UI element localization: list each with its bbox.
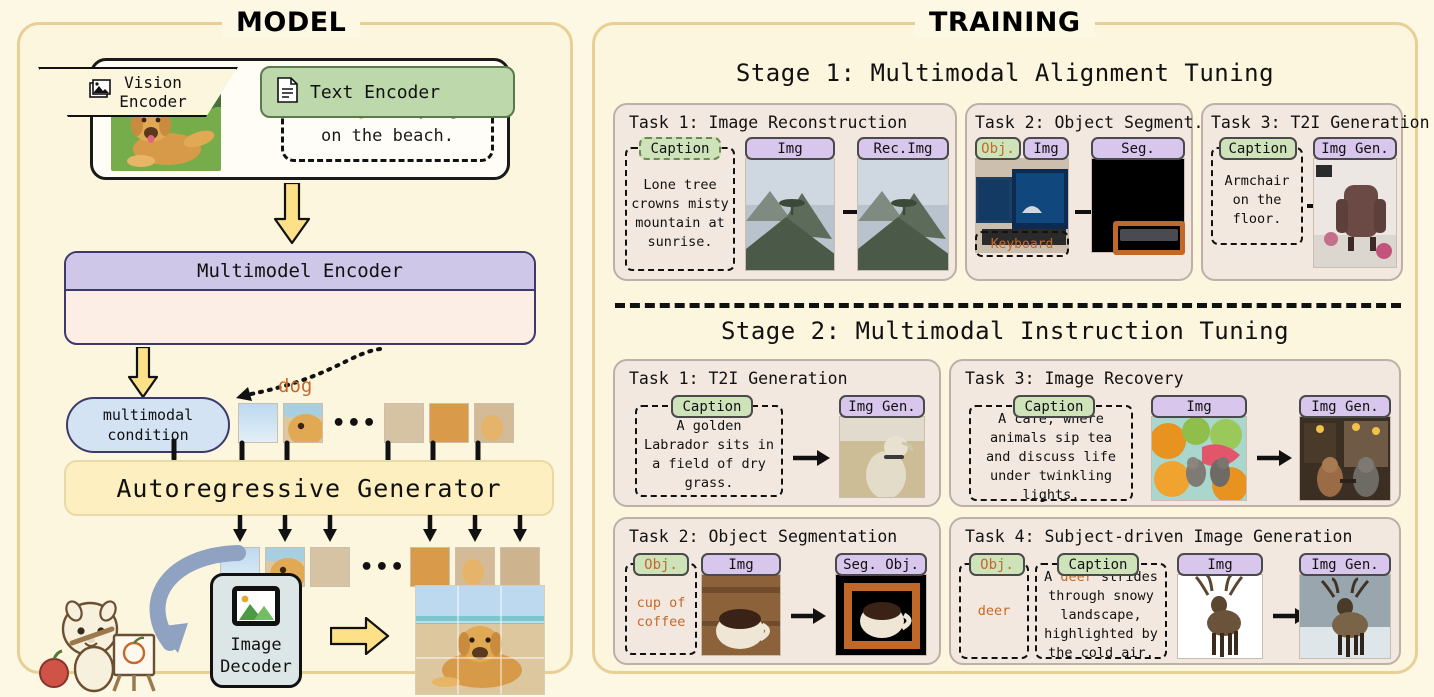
stage1-task1-card: Task 1: Image Reconstruction Caption Lon… [613,103,957,281]
image-icon [89,78,113,106]
patch-in-4 [429,403,469,443]
arrow-decoder-to-output [330,617,390,655]
text-encoder-label: Text Encoder [310,82,440,103]
patch-in-3 [384,403,424,443]
training-panel-title: TRAINING [915,7,1095,38]
stage2-task2-img-thumb [701,574,781,656]
stage1-task1-img-thumb [745,158,835,271]
stage1-task2-title: Task 2: Object Segment. [975,113,1203,132]
dog-token-label: dog [278,375,312,397]
stage2-task2-arrow [791,607,827,629]
figure-root: MODEL [0,0,1434,692]
model-panel-title: MODEL [222,7,360,38]
stage2-task4-img-thumb [1177,574,1263,659]
multimodal-encoder-title: Multimodel Encoder [66,253,534,291]
stage1-task3-out-tag: Img Gen. [1313,137,1397,160]
stage2-task1-out-tag: Img Gen. [839,395,925,418]
stage2-task2-card: Task 2: Object Segmentation Obj. cup of … [613,517,941,665]
stage1-task1-caption-tag: Caption [639,137,721,160]
vision-encoder-line2: Encoder [119,92,186,111]
stage2-task3-caption-text: A café, where animals sip tea and discus… [974,410,1128,505]
patch-in-2 [283,403,323,443]
stage2-task4-caption-box: A deer strides through snowy landscape, … [1035,563,1167,659]
stage2-task3-out-thumb [1299,416,1391,501]
stage2-task3-arrow [1257,449,1293,471]
stage2-task3-out-tag: Img Gen. [1299,395,1391,418]
picture-icon [230,584,282,634]
generator-output-arrows [230,515,560,547]
stage1-task2-obj-box: Keyboard [975,231,1069,257]
stage2-task3-card: Task 3: Image Recovery Caption A café, w… [949,359,1401,507]
stage2-task2-obj-text: cup of coffee [630,594,692,632]
stage1-task1-out-thumb [857,158,949,271]
stage2-task2-obj-box: cup of coffee [625,563,697,655]
stage1-task2-obj-tag: Obj. [975,137,1021,160]
stage2-task1-caption-text: A golden Labrador sits in a field of dry… [640,417,778,493]
stage2-task2-img-tag: Img [701,553,781,576]
stage1-task3-caption-box: Armchair on the floor. [1211,147,1303,245]
stage2-task2-title: Task 2: Object Segmentation [629,527,897,546]
patch-in-1 [238,403,278,443]
multimodal-encoder: Multimodel Encoder [64,251,536,345]
stage1-task2-obj-text: Keyboard [991,235,1054,254]
caption-line2: on the beach. [321,123,454,149]
stage1-task2-img-tag: Img [1023,137,1069,160]
stage1-task2-out-tag: Seg. [1091,137,1185,160]
stage2-task4-img-tag: Img [1177,553,1263,576]
patch-out-ellipsis: ••• [360,555,406,580]
stage1-task3-caption-text: Armchair on the floor. [1216,172,1298,229]
image-decoder-line1: Image [230,634,281,656]
stage2-task1-card: Task 1: T2I Generation Caption A golden … [613,359,941,507]
stage1-task1-out-tag: Rec.Img [857,137,949,160]
stage1-task3-title: Task 3: T2I Generation [1211,113,1430,132]
autoregressive-generator: Autoregressive Generator [64,460,554,516]
final-generated-image [415,585,545,695]
image-decoder-line2: Decoder [220,656,292,678]
arrow-encoder-to-condition [128,347,158,399]
patch-in-5 [474,403,514,443]
patch-out-4 [410,547,450,587]
stage1-task3-out-thumb [1313,158,1397,268]
stage2-task4-caption-tag: Caption [1057,553,1139,576]
model-panel: MODEL [17,22,573,674]
stage1-task1-caption-box: Lone tree crowns misty mountain at sunri… [625,147,735,271]
text-encoder: Text Encoder [260,66,515,118]
stage1-task2-seg-highlight [1113,221,1185,255]
stage2-task3-caption-tag: Caption [1013,395,1095,418]
patch-in-ellipsis: ••• [332,411,378,436]
condition-line1: multimodal [103,405,193,425]
stage2-task2-out-tag: Seg. Obj. [835,553,927,576]
training-panel: TRAINING Stage 1: Multimodal Alignment T… [592,22,1418,674]
stage2-task2-out-thumb [835,574,927,656]
stage2-task1-arrow [793,449,831,471]
stage1-task1-title: Task 1: Image Reconstruction [629,113,907,132]
vision-encoder: Vision Encoder [38,67,238,117]
patch-out-5 [455,547,495,587]
stage1-task3-card: Task 3: T2I Generation Caption Armchair … [1201,103,1403,281]
stage2-task4-out-tag: Img Gen. [1299,553,1391,576]
arrow-input-to-encoder [274,183,310,245]
document-icon [276,76,300,109]
alpaca-mascot-icon [38,583,158,697]
stage1-task2-card: Task 2: Object Segment. Obj. Img Keyboar… [965,103,1193,281]
stage2-task3-caption-box: A café, where animals sip tea and discus… [969,405,1133,501]
image-decoder: Image Decoder [210,573,302,688]
stage2-title: Stage 2: Multimodal Instruction Tuning [595,317,1415,345]
stage2-task4-card: Task 4: Subject-driven Image Generation … [949,517,1401,665]
stage2-task4-out-thumb [1299,574,1391,659]
stage1-title: Stage 1: Multimodal Alignment Tuning [595,59,1415,87]
stage2-task2-obj-tag: Obj. [633,553,689,576]
stage2-task3-img-thumb [1151,416,1247,501]
stage1-task3-caption-tag: Caption [1219,137,1297,160]
stage2-task1-caption-tag: Caption [671,395,753,418]
stage1-task1-caption-text: Lone tree crowns misty mountain at sunri… [630,176,730,252]
vision-encoder-line1: Vision [119,73,186,92]
stage2-task3-img-tag: Img [1151,395,1247,418]
stage-divider [615,303,1401,308]
patch-out-6 [500,547,540,587]
stage2-task1-caption-box: A golden Labrador sits in a field of dry… [635,405,783,497]
stage2-task4-obj-tag: Obj. [969,553,1025,576]
stage2-task1-out-thumb [839,416,925,498]
vision-encoder-label: Vision Encoder [38,67,238,117]
stage2-task4-obj-box: deer [959,563,1029,659]
stage2-task4-obj-text: deer [978,602,1011,621]
stage2-task4-title: Task 4: Subject-driven Image Generation [965,527,1352,546]
stage2-task3-title: Task 3: Image Recovery [965,369,1184,388]
stage1-task1-img-tag: Img [745,137,835,160]
stage2-task1-title: Task 1: T2I Generation [629,369,848,388]
